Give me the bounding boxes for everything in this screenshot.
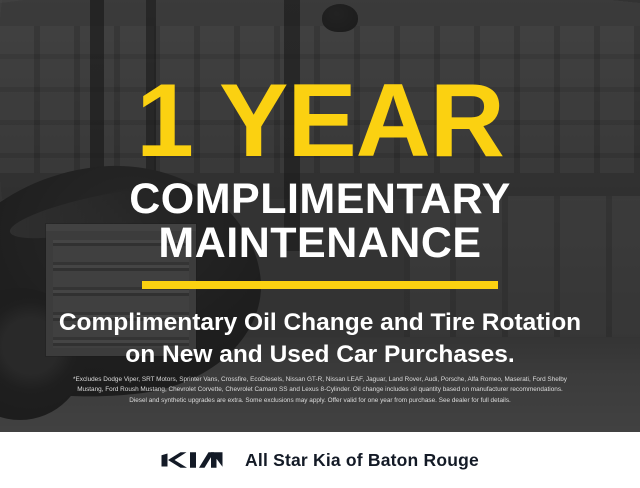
kia-logo <box>161 450 223 470</box>
headline-offer-line2: MAINTENANCE <box>129 222 511 266</box>
footer-bar: All Star Kia of Baton Rouge <box>0 432 640 488</box>
offer-description-line2: on New and Used Car Purchases. <box>59 339 581 370</box>
disclaimer-text: *Excludes Dodge Viper, SRT Motors, Sprin… <box>14 375 626 406</box>
disclaimer-line-1: *Excludes Dodge Viper, SRT Motors, Sprin… <box>14 375 626 385</box>
headline-duration: 1 YEAR <box>136 74 504 170</box>
disclaimer-line-2: Mustang, Ford Roush Mustang, Chevrolet C… <box>14 385 626 395</box>
headline-offer: COMPLIMENTARY MAINTENANCE <box>129 178 511 266</box>
offer-description-line1: Complimentary Oil Change and Tire Rotati… <box>59 309 581 336</box>
promotional-banner: 1 YEAR COMPLIMENTARY MAINTENANCE Complim… <box>0 0 640 488</box>
banner-content: 1 YEAR COMPLIMENTARY MAINTENANCE Complim… <box>0 0 640 432</box>
yellow-divider-bar <box>142 281 498 289</box>
offer-description: Complimentary Oil Change and Tire Rotati… <box>59 307 581 370</box>
dealer-name: All Star Kia of Baton Rouge <box>245 450 479 471</box>
headline-offer-line1: COMPLIMENTARY <box>129 175 511 223</box>
disclaimer-line-3: Diesel and synthetic upgrades are extra.… <box>14 396 626 406</box>
